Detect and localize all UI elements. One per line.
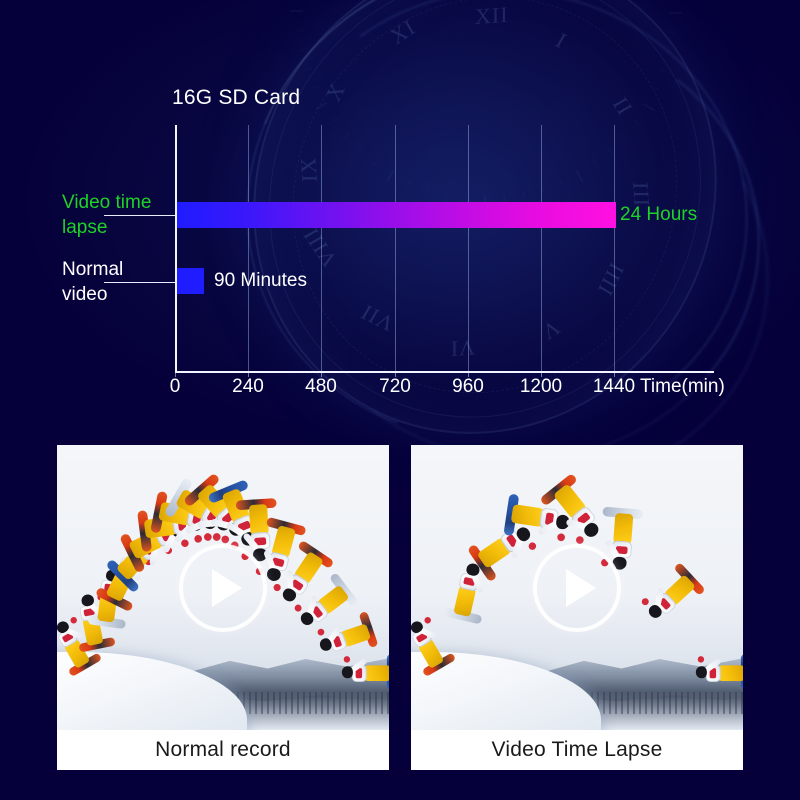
rider-helmet	[696, 666, 707, 678]
rider-glove	[556, 532, 565, 541]
rider-glove	[698, 656, 704, 662]
gridline	[395, 125, 396, 371]
x-axis-caption: Time(min)	[640, 376, 725, 398]
x-axis-tick-label: 240	[232, 376, 264, 398]
rider-legs	[363, 665, 389, 681]
rider-glove	[423, 616, 432, 625]
rider-helmet	[342, 666, 353, 678]
x-axis-tick-label: 720	[379, 376, 411, 398]
leader-line-video-time-lapse	[104, 215, 175, 216]
category-label-line2: lapse	[62, 215, 151, 240]
play-icon[interactable]	[179, 544, 267, 632]
x-axis-tick-label: 480	[305, 376, 337, 398]
category-label-line1: Video time	[62, 190, 151, 215]
leader-line-normal-video	[104, 282, 175, 283]
sd-card-capacity-chart: 16G SD Card 024048072096012001440 Time(m…	[0, 0, 800, 430]
rider-glove	[317, 628, 325, 636]
gridline	[321, 125, 322, 371]
chart-title: 16G SD Card	[172, 86, 300, 110]
x-axis-tick-label: 0	[170, 376, 181, 398]
rider-glove	[69, 616, 78, 625]
play-triangle	[566, 569, 596, 607]
gridline	[248, 125, 249, 371]
x-axis-tick-label: 1200	[520, 376, 562, 398]
play-icon[interactable]	[533, 544, 621, 632]
category-label-line2: video	[62, 282, 123, 307]
gridline	[614, 125, 615, 371]
rider-glove	[272, 583, 282, 593]
rider-glove	[193, 534, 202, 543]
thumbnail-photo	[411, 445, 743, 730]
video-thumbnail-video-time-lapse[interactable]: Video Time Lapse	[411, 445, 743, 770]
rider-glove	[204, 532, 213, 541]
x-axis-tick-label: 960	[452, 376, 484, 398]
thumbnail-caption: Video Time Lapse	[411, 730, 743, 770]
rider-glove	[293, 603, 303, 613]
value-label-normal-video: 90 Minutes	[214, 270, 307, 292]
gridline	[468, 125, 469, 371]
x-axis-line	[175, 371, 714, 373]
page-root: IIIIIIIIIIVVIVIIVIIIIXXXIXII 16G SD Card…	[0, 0, 800, 800]
video-thumbnail-row: Normal record Video Time Lapse	[0, 440, 800, 775]
y-axis-line	[175, 125, 177, 373]
value-label-video-time-lapse: 24 Hours	[620, 204, 697, 226]
thumbnail-caption: Normal record	[57, 730, 389, 770]
rider-glove	[640, 597, 650, 607]
bar-video-time-lapse	[177, 202, 616, 228]
category-label-line1: Normal	[62, 257, 123, 282]
bar-normal-video	[177, 268, 204, 294]
thumbnail-photo	[57, 445, 389, 730]
gridline	[541, 125, 542, 371]
play-triangle	[212, 569, 242, 607]
rider-legs	[717, 665, 743, 681]
rider-glove	[344, 656, 350, 662]
rider-glove	[220, 534, 231, 545]
rider-glove	[527, 541, 537, 551]
video-thumbnail-normal-record[interactable]: Normal record	[57, 445, 389, 770]
x-axis-tick-label: 1440	[593, 376, 635, 398]
